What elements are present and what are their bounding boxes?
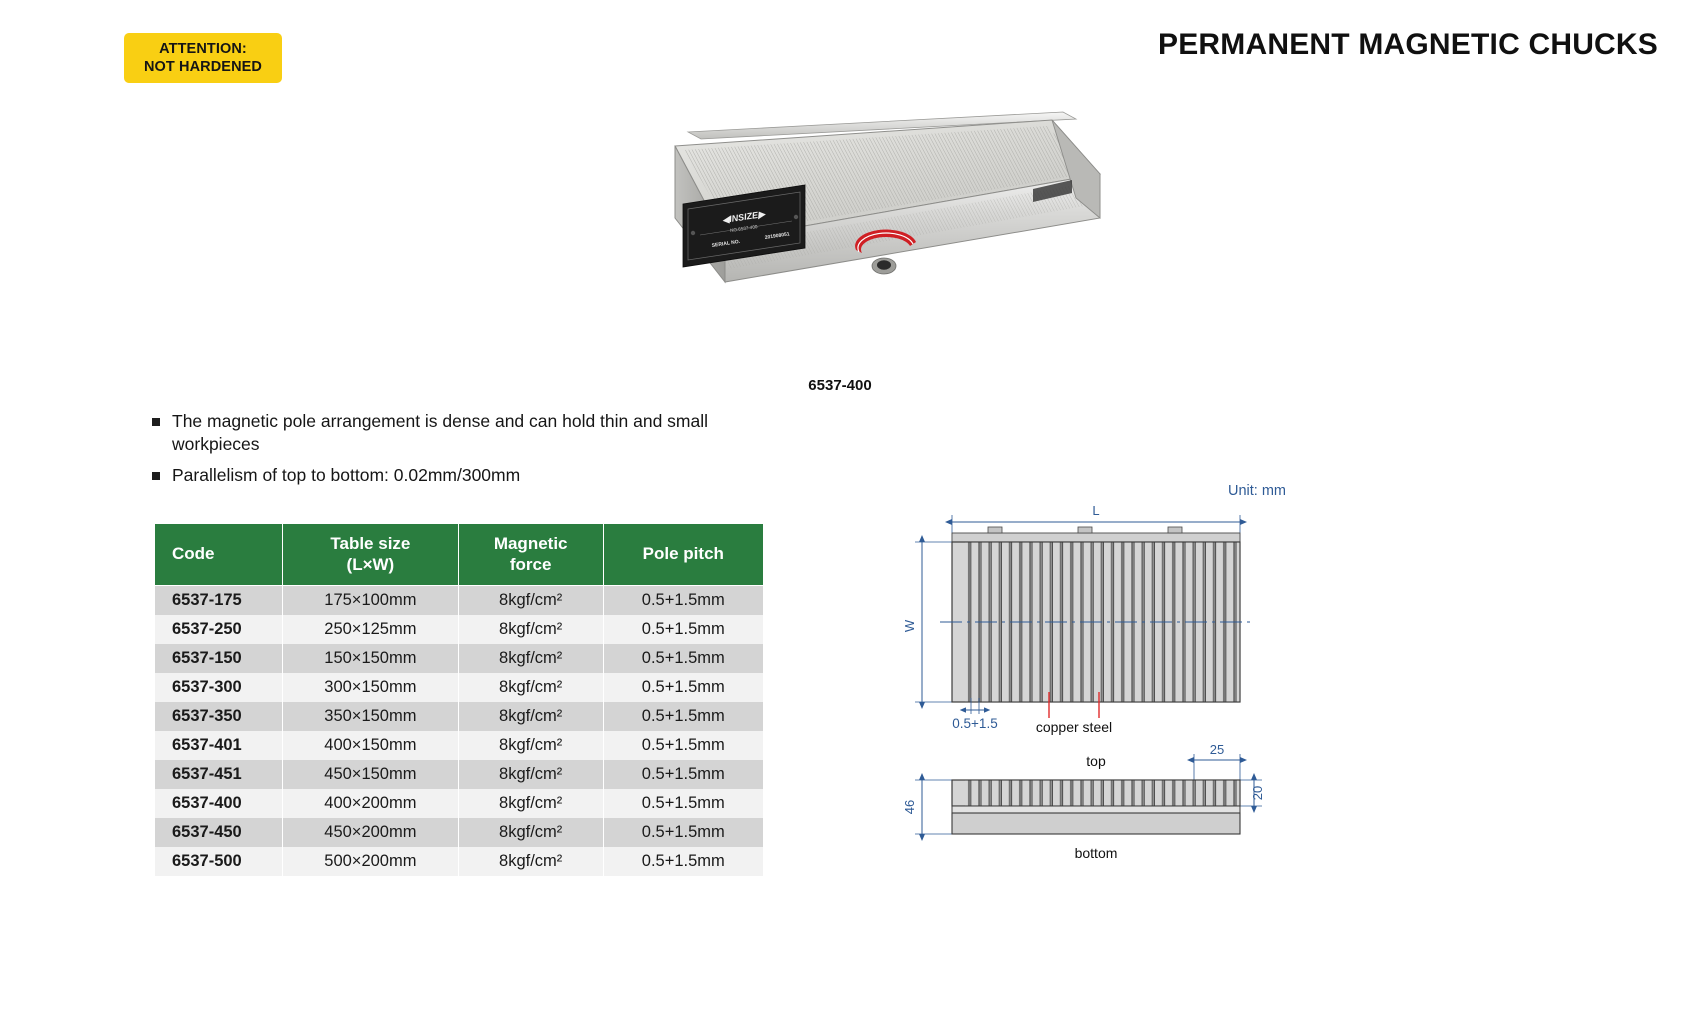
cell-pole-pitch: 0.5+1.5mm	[603, 586, 763, 615]
dimension-46: 46	[902, 800, 917, 814]
cell-code: 6537-250	[155, 615, 283, 644]
cell-pole-pitch: 0.5+1.5mm	[603, 847, 763, 876]
attention-label-line1: ATTENTION:	[159, 40, 247, 58]
cell-magnetic-force: 8kgf/cm²	[458, 673, 603, 702]
table-row: 6537-350350×150mm8kgf/cm²0.5+1.5mm	[155, 702, 764, 731]
table-row: 6537-175175×100mm8kgf/cm²0.5+1.5mm	[155, 586, 764, 615]
feature-text: Parallelism of top to bottom: 0.02mm/300…	[172, 464, 520, 487]
cell-magnetic-force: 8kgf/cm²	[458, 702, 603, 731]
dimension-pole-pitch: 0.5+1.5	[952, 716, 997, 731]
cell-table-size: 450×150mm	[283, 760, 459, 789]
column-header-code: Code	[155, 524, 283, 586]
cell-code: 6537-400	[155, 789, 283, 818]
cell-code: 6537-401	[155, 731, 283, 760]
product-photo: ◀INSIZE▶ NO.6537-400 SERIAL NO. 20190805…	[560, 100, 1120, 355]
table-row: 6537-500500×200mm8kgf/cm²0.5+1.5mm	[155, 847, 764, 876]
dimension-25: 25	[1210, 742, 1224, 757]
cell-table-size: 400×150mm	[283, 731, 459, 760]
table-row: 6537-400400×200mm8kgf/cm²0.5+1.5mm	[155, 789, 764, 818]
feature-text: The magnetic pole arrangement is dense a…	[172, 410, 792, 457]
table-header-row: Code Table size (L×W) Magnetic force Pol…	[155, 524, 764, 586]
cell-code: 6537-300	[155, 673, 283, 702]
table-body: 6537-175175×100mm8kgf/cm²0.5+1.5mm6537-2…	[155, 586, 764, 876]
product-caption: 6537-400	[560, 377, 1120, 394]
specification-table: Code Table size (L×W) Magnetic force Pol…	[154, 523, 764, 876]
bullet-square-icon	[152, 472, 160, 480]
cell-magnetic-force: 8kgf/cm²	[458, 615, 603, 644]
bullet-square-icon	[152, 418, 160, 426]
page-title: PERMANENT MAGNETIC CHUCKS	[1158, 28, 1658, 62]
table-row: 6537-401400×150mm8kgf/cm²0.5+1.5mm	[155, 731, 764, 760]
column-header-table-size-line2: (L×W)	[289, 555, 452, 575]
cell-magnetic-force: 8kgf/cm²	[458, 644, 603, 673]
cell-table-size: 350×150mm	[283, 702, 459, 731]
cell-magnetic-force: 8kgf/cm²	[458, 586, 603, 615]
cell-table-size: 175×100mm	[283, 586, 459, 615]
cell-magnetic-force: 8kgf/cm²	[458, 731, 603, 760]
column-header-magnetic-force-line2: force	[465, 555, 597, 575]
technical-drawing: L W 0.5+1.5 copper steel top 25	[880, 470, 1320, 870]
cell-table-size: 300×150mm	[283, 673, 459, 702]
cell-pole-pitch: 0.5+1.5mm	[603, 789, 763, 818]
cell-code: 6537-451	[155, 760, 283, 789]
cell-magnetic-force: 8kgf/cm²	[458, 818, 603, 847]
cell-table-size: 150×150mm	[283, 644, 459, 673]
label-copper-steel: copper steel	[1036, 719, 1112, 735]
cell-pole-pitch: 0.5+1.5mm	[603, 702, 763, 731]
label-view-top: top	[1086, 753, 1106, 769]
table-row: 6537-150150×150mm8kgf/cm²0.5+1.5mm	[155, 644, 764, 673]
column-header-magnetic-force: Magnetic force	[458, 524, 603, 586]
attention-badge: ATTENTION: NOT HARDENED	[124, 33, 282, 83]
cell-table-size: 400×200mm	[283, 789, 459, 818]
feature-list: The magnetic pole arrangement is dense a…	[152, 410, 792, 494]
cell-table-size: 500×200mm	[283, 847, 459, 876]
column-header-table-size-line1: Table size	[289, 534, 452, 554]
cell-code: 6537-450	[155, 818, 283, 847]
cell-pole-pitch: 0.5+1.5mm	[603, 818, 763, 847]
cell-pole-pitch: 0.5+1.5mm	[603, 731, 763, 760]
dimension-20: 20	[1250, 786, 1265, 800]
list-item: Parallelism of top to bottom: 0.02mm/300…	[152, 464, 792, 487]
cell-code: 6537-500	[155, 847, 283, 876]
table-row: 6537-300300×150mm8kgf/cm²0.5+1.5mm	[155, 673, 764, 702]
table-row: 6537-250250×125mm8kgf/cm²0.5+1.5mm	[155, 615, 764, 644]
attention-label-line2: NOT HARDENED	[144, 58, 262, 76]
label-view-bottom: bottom	[1075, 845, 1118, 861]
cell-table-size: 450×200mm	[283, 818, 459, 847]
cell-table-size: 250×125mm	[283, 615, 459, 644]
table-row: 6537-451450×150mm8kgf/cm²0.5+1.5mm	[155, 760, 764, 789]
cell-pole-pitch: 0.5+1.5mm	[603, 760, 763, 789]
cell-magnetic-force: 8kgf/cm²	[458, 760, 603, 789]
cell-pole-pitch: 0.5+1.5mm	[603, 673, 763, 702]
cell-code: 6537-175	[155, 586, 283, 615]
dimension-W: W	[902, 619, 917, 632]
dimension-L: L	[1092, 503, 1099, 518]
cell-pole-pitch: 0.5+1.5mm	[603, 644, 763, 673]
list-item: The magnetic pole arrangement is dense a…	[152, 410, 792, 457]
column-header-magnetic-force-line1: Magnetic	[465, 534, 597, 554]
cell-magnetic-force: 8kgf/cm²	[458, 847, 603, 876]
cell-magnetic-force: 8kgf/cm²	[458, 789, 603, 818]
table-row: 6537-450450×200mm8kgf/cm²0.5+1.5mm	[155, 818, 764, 847]
column-header-pole-pitch: Pole pitch	[603, 524, 763, 586]
cell-pole-pitch: 0.5+1.5mm	[603, 615, 763, 644]
column-header-table-size: Table size (L×W)	[283, 524, 459, 586]
cell-code: 6537-350	[155, 702, 283, 731]
cell-code: 6537-150	[155, 644, 283, 673]
